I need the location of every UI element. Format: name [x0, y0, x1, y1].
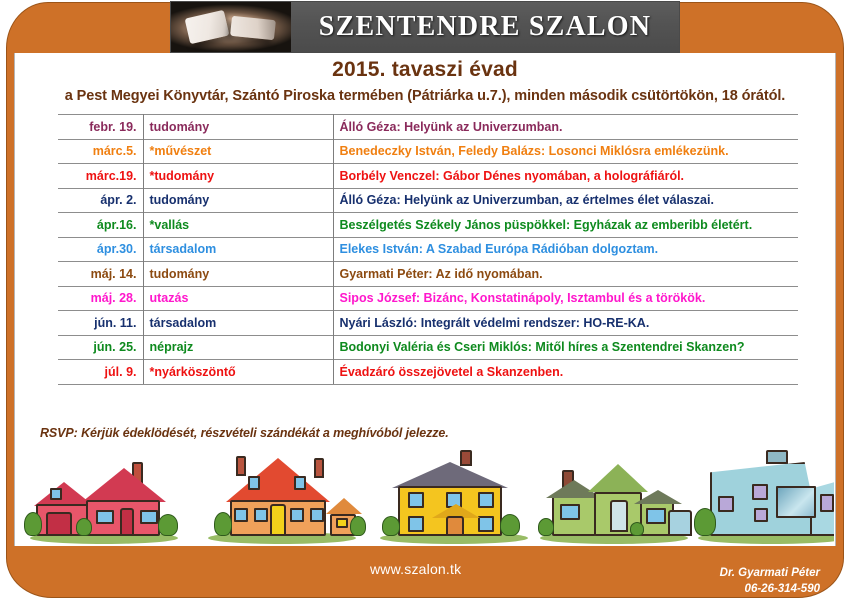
front-door	[120, 508, 134, 536]
window-shape	[408, 492, 424, 508]
bush-shape	[382, 516, 400, 536]
banner-title: SZENTENDRE SZALON	[319, 11, 651, 43]
venue-subtitle: a Pest Megyei Könyvtár, Szántó Piroska t…	[0, 88, 850, 104]
roof-right-gable	[634, 490, 682, 504]
window-shape	[408, 516, 424, 532]
bush-shape	[158, 514, 178, 536]
window-shape	[140, 510, 158, 524]
header-banner: SZENTENDRE SZALON	[170, 1, 680, 53]
event-date: febr. 19.	[58, 115, 143, 140]
rsvp-note: RSVP: Kérjük édeklödését, részvételi szá…	[40, 426, 449, 440]
picture-window	[776, 486, 816, 518]
event-description: Gyarmati Péter: Az idő nyomában.	[333, 262, 798, 287]
event-description: Benedeczky István, Feledy Balázs: Losonc…	[333, 139, 798, 164]
window-shape	[752, 484, 768, 500]
signer-name: Dr. Gyarmati Péter	[720, 566, 820, 582]
table-row: jún. 25.néprajzBodonyi Valéria és Cseri …	[58, 335, 798, 360]
website-link[interactable]: www.szalon.tk	[370, 561, 461, 577]
event-date: ápr.30.	[58, 237, 143, 262]
table-row: máj. 28.utazásSipos József: Bizánc, Kons…	[58, 286, 798, 311]
signature-block: Dr. Gyarmati Péter 06-26-314-590	[720, 566, 820, 597]
event-date: ápr.16.	[58, 213, 143, 238]
window-shape	[336, 518, 348, 528]
signer-phone: 06-26-314-590	[720, 582, 820, 598]
table-row: ápr.16.*vallásBeszélgetés Székely János …	[58, 213, 798, 238]
house-green	[534, 446, 694, 546]
bush-shape	[500, 514, 520, 536]
house-blue	[692, 446, 834, 546]
event-topic: tudomány	[143, 115, 333, 140]
window-shape	[478, 516, 494, 532]
roof-main-gable	[392, 462, 508, 488]
bush-shape	[630, 522, 644, 536]
roof-main-gable	[82, 468, 166, 502]
event-description: Nyári László: Integrált védelmi rendszer…	[333, 311, 798, 336]
event-description: Évadzáró összejövetel a Skanzenben.	[333, 360, 798, 385]
event-date: jún. 25.	[58, 335, 143, 360]
event-description: Álló Géza: Helyünk az Univerzumban, az é…	[333, 188, 798, 213]
window-shape	[646, 508, 666, 524]
event-topic: utazás	[143, 286, 333, 311]
window-shape	[560, 504, 580, 520]
schedule-body: febr. 19.tudományÁlló Géza: Helyünk az U…	[58, 115, 798, 385]
bush-shape	[350, 516, 366, 536]
event-date: márc.19.	[58, 164, 143, 189]
event-topic: társadalom	[143, 311, 333, 336]
window-shape	[310, 508, 324, 522]
house-yellow	[374, 446, 534, 546]
table-row: máj. 14.tudományGyarmati Péter: Az idő n…	[58, 262, 798, 287]
event-topic: társadalom	[143, 237, 333, 262]
window-shape	[96, 510, 114, 524]
event-date: ápr. 2.	[58, 188, 143, 213]
front-door	[270, 504, 286, 536]
bush-shape	[694, 508, 716, 536]
table-row: febr. 19.tudományÁlló Géza: Helyünk az U…	[58, 115, 798, 140]
event-date: jún. 11.	[58, 311, 143, 336]
window-shape	[290, 508, 304, 522]
bush-shape	[24, 512, 42, 536]
event-description: Elekes István: A Szabad Európa Rádióban …	[333, 237, 798, 262]
handshake-photo-icon	[171, 2, 291, 52]
table-row: jún. 11.társadalomNyári László: Integrál…	[58, 311, 798, 336]
event-description: Beszélgetés Székely János püspökkel: Egy…	[333, 213, 798, 238]
event-date: máj. 28.	[58, 286, 143, 311]
window-shape	[754, 508, 768, 522]
event-topic: *vallás	[143, 213, 333, 238]
table-row: ápr.30.társadalomElekes István: A Szabad…	[58, 237, 798, 262]
event-description: Sipos József: Bizánc, Konstatinápoly, Is…	[333, 286, 798, 311]
house-orange	[202, 446, 362, 546]
schedule-table: febr. 19.tudományÁlló Géza: Helyünk az U…	[58, 114, 798, 385]
window-shape	[718, 496, 734, 512]
page-title: 2015. tavaszi évad	[0, 58, 850, 82]
window-shape	[234, 508, 248, 522]
dormer-window	[248, 476, 260, 490]
poster-root: SZENTENDRE SZALON 2015. tavaszi évad a P…	[0, 0, 850, 600]
bush-shape	[76, 518, 92, 536]
dormer-window	[294, 476, 306, 490]
front-door	[446, 516, 464, 536]
window-shape	[478, 492, 494, 508]
event-description: Álló Géza: Helyünk az Univerzumban.	[333, 115, 798, 140]
event-date: márc.5.	[58, 139, 143, 164]
shed-roof	[326, 498, 362, 514]
table-row: márc.5.*művészetBenedeczky István, Feled…	[58, 139, 798, 164]
event-topic: *művészet	[143, 139, 333, 164]
event-topic: tudomány	[143, 188, 333, 213]
event-topic: *tudomány	[143, 164, 333, 189]
event-topic: néprajz	[143, 335, 333, 360]
banner-title-box: SZENTENDRE SZALON	[291, 2, 679, 52]
window-shape	[254, 508, 268, 522]
house-pink	[24, 446, 184, 546]
event-topic: *nyárköszöntő	[143, 360, 333, 385]
chimney-shape	[766, 450, 788, 464]
event-date: júl. 9.	[58, 360, 143, 385]
roof-portico	[588, 464, 648, 492]
window-shape	[820, 494, 834, 512]
window-shape	[50, 488, 62, 500]
houses-illustration	[16, 440, 834, 546]
event-topic: tudomány	[143, 262, 333, 287]
bush-shape	[538, 518, 554, 536]
table-row: márc.19.*tudományBorbély Venczel: Gábor …	[58, 164, 798, 189]
roof-main-gable	[226, 458, 330, 502]
bush-shape	[214, 512, 232, 536]
event-description: Borbély Venczel: Gábor Dénes nyomában, a…	[333, 164, 798, 189]
garage-door	[668, 510, 692, 536]
garage-door	[46, 512, 72, 536]
event-description: Bodonyi Valéria és Cseri Miklós: Mitől h…	[333, 335, 798, 360]
front-door	[610, 500, 628, 532]
event-date: máj. 14.	[58, 262, 143, 287]
table-row: júl. 9.*nyárköszöntőÉvadzáró összejövete…	[58, 360, 798, 385]
table-row: ápr. 2.tudományÁlló Géza: Helyünk az Uni…	[58, 188, 798, 213]
